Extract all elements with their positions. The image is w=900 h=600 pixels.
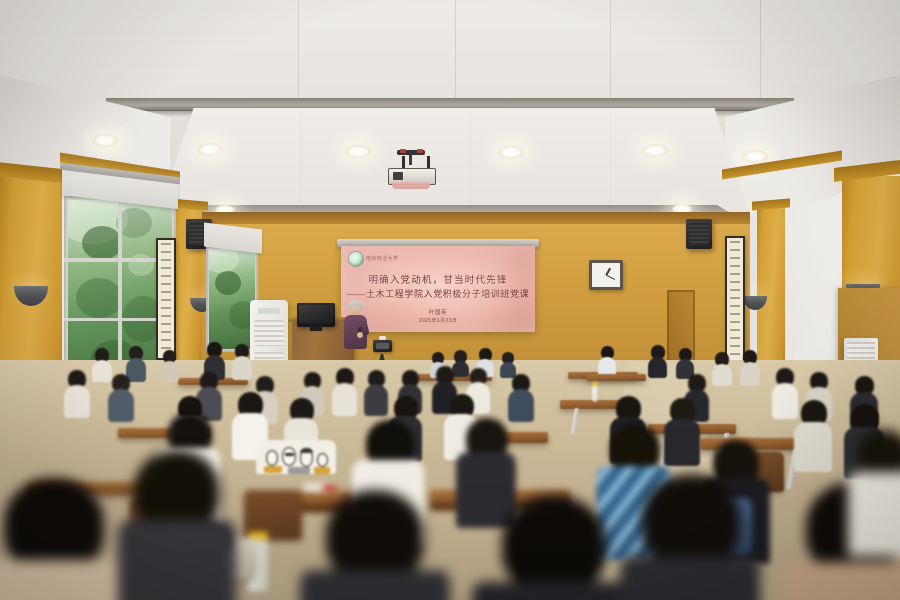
ceiling-seam [610, 0, 611, 98]
recessed-downlight [498, 146, 524, 159]
ceiling-seam [298, 0, 299, 98]
water-bottle [592, 386, 598, 402]
recessed-downlight [742, 150, 768, 163]
audience-person [64, 370, 90, 416]
audience-person [300, 490, 450, 600]
wall-speaker-right [686, 219, 712, 249]
wall-back-trim [158, 212, 750, 224]
recessed-downlight [197, 143, 223, 156]
audience-person [712, 352, 732, 384]
ceiling-inner-panel [158, 108, 750, 216]
audience-person [794, 400, 832, 470]
slide-subtitle: ——土木工程学院入党积极分子培训班党课 [341, 287, 535, 300]
audience-person [598, 346, 616, 376]
audience-person [118, 450, 236, 600]
audience-person [0, 478, 120, 600]
slide-presenter: 叶国英 [341, 308, 535, 316]
ceiling-upper-panel [0, 0, 900, 100]
wall-clock [589, 260, 623, 290]
projection-screen[interactable]: 南京林业大学 明确入党动机，甘当时代先锋 ——土木工程学院入党积极分子培训班党课… [341, 246, 535, 332]
camera-body [373, 340, 392, 352]
presenter-hand [357, 332, 363, 338]
slide-title: 明确入党动机，甘当时代先锋 [341, 272, 535, 286]
podium-monitor-stand [310, 327, 322, 331]
audience-person [648, 345, 667, 377]
slide-date: 2025年6月23日 [341, 317, 535, 324]
calligraphy-scroll-left [156, 238, 176, 360]
ceiling-seam [610, 112, 611, 204]
projector-indicator-icon [417, 149, 423, 153]
projector-indicator-icon [400, 149, 406, 153]
audience-person [232, 344, 252, 378]
audience-person [740, 350, 760, 384]
recessed-downlight [92, 134, 118, 147]
ceiling-seam [760, 0, 761, 98]
cartoon-print-shirt [256, 440, 336, 474]
audience-person [332, 368, 357, 414]
audience-person [620, 474, 760, 600]
university-name: 南京林业大学 [366, 255, 398, 262]
audience-person [160, 350, 179, 380]
desk [586, 374, 646, 381]
recessed-downlight [642, 144, 668, 157]
ceiling-seam [455, 0, 456, 98]
audience-person [472, 496, 632, 600]
podium-monitor [297, 303, 335, 327]
audience-person [108, 374, 134, 420]
calligraphy-scroll-right [725, 236, 745, 362]
audience-person [364, 370, 388, 414]
projector-lens [392, 182, 430, 189]
university-emblem-icon [349, 252, 363, 266]
lecture-hall-photo: 南京林业大学 明确入党动机，甘当时代先锋 ——土木工程学院入党积极分子培训班党课… [0, 0, 900, 600]
recessed-downlight [345, 145, 371, 158]
audience-person [508, 374, 534, 420]
ceiling-seam [300, 112, 301, 204]
audience-person [848, 430, 900, 550]
window-left-2 [209, 249, 255, 349]
ceiling-seam [470, 112, 471, 204]
presenter [340, 300, 370, 360]
audience-person [500, 352, 516, 376]
